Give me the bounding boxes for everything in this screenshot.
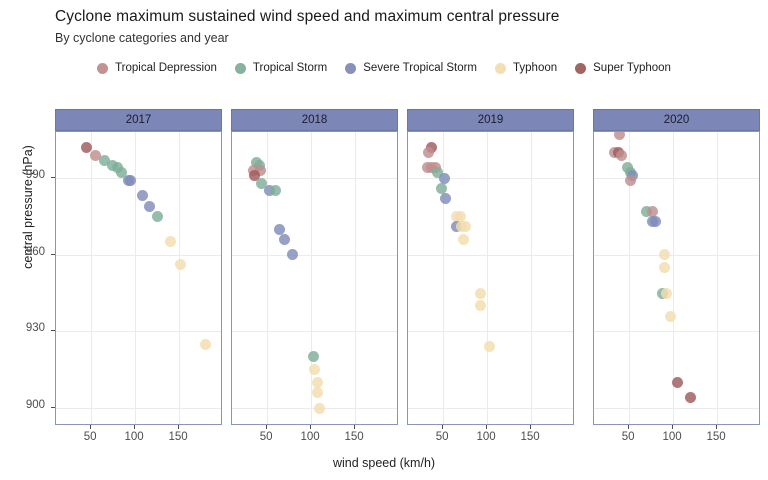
- legend-item-label: Typhoon: [513, 62, 557, 74]
- data-point[interactable]: [659, 262, 670, 273]
- facet-strip-label: 2019: [478, 114, 504, 126]
- gridline-vertical: [355, 132, 356, 424]
- facet-strip-label: 2017: [126, 114, 152, 126]
- gridline-horizontal: [594, 408, 759, 409]
- legend-item[interactable]: Tropical Storm: [235, 62, 327, 74]
- data-point[interactable]: [614, 131, 625, 140]
- data-point[interactable]: [279, 234, 290, 245]
- x-tick-mark: [90, 425, 91, 429]
- data-point[interactable]: [270, 185, 281, 196]
- x-tick-mark: [310, 425, 311, 429]
- x-tick-label: 150: [696, 431, 736, 443]
- legend-item-label: Severe Tropical Storm: [363, 62, 477, 74]
- data-point[interactable]: [312, 387, 323, 398]
- facet-strip-label: 2018: [302, 114, 328, 126]
- facet-strip: 2019: [407, 109, 574, 131]
- gridline-horizontal: [232, 331, 397, 332]
- gridline-vertical: [91, 132, 92, 424]
- gridline-vertical: [531, 132, 532, 424]
- data-point[interactable]: [152, 211, 163, 222]
- x-tick-label: 50: [422, 431, 462, 443]
- data-point[interactable]: [440, 193, 451, 204]
- y-tick-label: 900: [5, 399, 45, 411]
- data-point[interactable]: [309, 364, 320, 375]
- gridline-horizontal: [408, 331, 573, 332]
- data-point[interactable]: [659, 249, 670, 260]
- plot-area: [55, 131, 222, 425]
- data-point[interactable]: [165, 236, 176, 247]
- x-tick-mark: [486, 425, 487, 429]
- data-point[interactable]: [308, 351, 319, 362]
- chart-root: Cyclone maximum sustained wind speed and…: [0, 0, 768, 480]
- x-tick-label: 100: [466, 431, 506, 443]
- legend-swatch-icon: [235, 63, 246, 74]
- gridline-horizontal: [408, 178, 573, 179]
- data-point[interactable]: [274, 224, 285, 235]
- x-tick-mark: [266, 425, 267, 429]
- page-subtitle: By cyclone categories and year: [55, 31, 229, 45]
- legend-item[interactable]: Super Typhoon: [575, 62, 671, 74]
- data-point[interactable]: [475, 288, 486, 299]
- data-point[interactable]: [423, 147, 434, 158]
- data-point[interactable]: [661, 288, 672, 299]
- legend-swatch-icon: [97, 63, 108, 74]
- x-tick-label: 150: [158, 431, 198, 443]
- facet-strip: 2018: [231, 109, 398, 131]
- gridline-horizontal: [594, 255, 759, 256]
- gridline-vertical: [179, 132, 180, 424]
- legend-item[interactable]: Tropical Depression: [97, 62, 217, 74]
- plot-area: [593, 131, 760, 425]
- x-tick-mark: [354, 425, 355, 429]
- data-point[interactable]: [484, 341, 495, 352]
- y-tick-label: 960: [5, 246, 45, 258]
- x-tick-mark: [442, 425, 443, 429]
- page-title: Cyclone maximum sustained wind speed and…: [55, 8, 559, 26]
- x-tick-mark: [530, 425, 531, 429]
- x-tick-label: 150: [334, 431, 374, 443]
- gridline-horizontal: [232, 255, 397, 256]
- gridline-vertical: [487, 132, 488, 424]
- facet-panel: 2019: [407, 109, 574, 425]
- data-point[interactable]: [144, 201, 155, 212]
- gridline-horizontal: [594, 178, 759, 179]
- data-point[interactable]: [287, 249, 298, 260]
- legend-item[interactable]: Severe Tropical Storm: [345, 62, 477, 74]
- data-point[interactable]: [616, 150, 627, 161]
- facet-strip-label: 2020: [664, 114, 690, 126]
- y-tick-label: 990: [5, 169, 45, 181]
- data-point[interactable]: [460, 221, 471, 232]
- gridline-horizontal: [408, 255, 573, 256]
- gridline-horizontal: [594, 331, 759, 332]
- data-point[interactable]: [665, 311, 676, 322]
- gridline-vertical: [267, 132, 268, 424]
- x-tick-mark: [672, 425, 673, 429]
- facet-panel: 2018: [231, 109, 398, 425]
- data-point[interactable]: [200, 339, 211, 350]
- data-point[interactable]: [439, 173, 450, 184]
- gridline-horizontal: [56, 408, 221, 409]
- plot-area: [231, 131, 398, 425]
- legend-swatch-icon: [495, 63, 506, 74]
- facet-panel: 2020: [593, 109, 760, 425]
- legend-item[interactable]: Typhoon: [495, 62, 557, 74]
- data-point[interactable]: [650, 216, 661, 227]
- x-tick-label: 50: [70, 431, 110, 443]
- gridline-vertical: [717, 132, 718, 424]
- x-tick-label: 50: [608, 431, 648, 443]
- plot-area: [407, 131, 574, 425]
- x-tick-mark: [178, 425, 179, 429]
- facet-panel: 2017: [55, 109, 222, 425]
- x-tick-label: 100: [114, 431, 154, 443]
- x-tick-mark: [716, 425, 717, 429]
- facet-strip: 2017: [55, 109, 222, 131]
- data-point[interactable]: [314, 403, 325, 414]
- y-tick-label: 930: [5, 322, 45, 334]
- data-point[interactable]: [458, 234, 469, 245]
- gridline-horizontal: [56, 255, 221, 256]
- x-tick-label: 150: [510, 431, 550, 443]
- x-tick-label: 100: [652, 431, 692, 443]
- gridline-horizontal: [408, 408, 573, 409]
- legend-item-label: Tropical Depression: [115, 62, 217, 74]
- data-point[interactable]: [625, 175, 636, 186]
- gridline-horizontal: [56, 331, 221, 332]
- legend-swatch-icon: [575, 63, 586, 74]
- facet-strip: 2020: [593, 109, 760, 131]
- x-tick-mark: [134, 425, 135, 429]
- data-point[interactable]: [475, 300, 486, 311]
- data-point[interactable]: [175, 259, 186, 270]
- data-point[interactable]: [685, 392, 696, 403]
- data-point[interactable]: [672, 377, 683, 388]
- chart-legend: Tropical DepressionTropical StormSevere …: [0, 62, 768, 74]
- x-axis-label: wind speed (km/h): [0, 456, 768, 470]
- legend-item-label: Tropical Storm: [253, 62, 327, 74]
- x-tick-label: 100: [290, 431, 330, 443]
- legend-swatch-icon: [345, 63, 356, 74]
- y-axis-label: central pressure (hPa): [21, 87, 35, 327]
- x-tick-label: 50: [246, 431, 286, 443]
- data-point[interactable]: [137, 190, 148, 201]
- legend-item-label: Super Typhoon: [593, 62, 671, 74]
- x-tick-mark: [628, 425, 629, 429]
- gridline-horizontal: [56, 178, 221, 179]
- gridline-vertical: [135, 132, 136, 424]
